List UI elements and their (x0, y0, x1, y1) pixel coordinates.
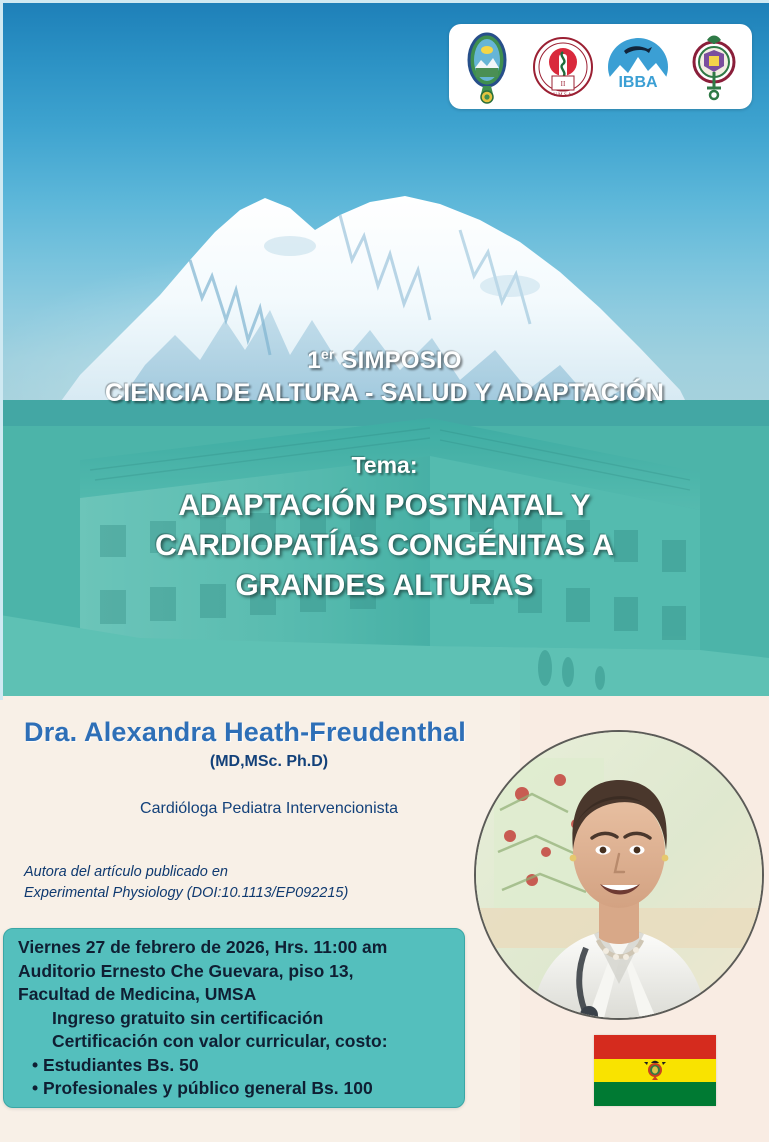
publication-line-1: Autora del artículo publicado en (24, 862, 494, 883)
svg-text:U.M.S.A.: U.M.S.A. (553, 93, 572, 98)
poster-frame-top (0, 0, 769, 3)
event-details-box: Viernes 27 de febrero de 2026, Hrs. 11:0… (3, 928, 465, 1108)
topic-line-1: ADAPTACIÓN POSTNATAL Y (0, 486, 769, 526)
institution-logos-bar: II U.M.S.A. IBBA (449, 24, 752, 109)
umsa-emblem-logo (681, 28, 747, 106)
ibba-logo: IBBA (605, 28, 671, 106)
event-number: 1 (307, 347, 321, 374)
event-number-suffix: er (321, 346, 335, 362)
event-title-line: 1er SIMPOSIO (0, 340, 769, 375)
detail-price-students: • Estudiantes Bs. 50 (18, 1054, 456, 1078)
bolivia-coat-of-arms-icon (642, 1059, 668, 1081)
facultad-de-medicina-umsa-logo: II U.M.S.A. (530, 28, 596, 106)
event-subtitle: CIENCIA DE ALTURA - SALUD Y ADAPTACIÓN (0, 377, 769, 409)
speaker-degrees: (MD,MSc. Ph.D) (24, 753, 514, 771)
poster-frame-left (0, 0, 3, 700)
poster-root: II U.M.S.A. IBBA (0, 0, 769, 1142)
publication-line-2: Experimental Physiology (DOI:10.1113/EP0… (24, 883, 494, 904)
topic-label: Tema: (0, 452, 769, 479)
flag-stripe-green (594, 1082, 716, 1106)
svg-text:IBBA: IBBA (619, 74, 659, 91)
publication-note: Autora del artículo publicado en Experim… (24, 862, 494, 904)
headline-block: 1er SIMPOSIO CIENCIA DE ALTURA - SALUD Y… (0, 340, 769, 409)
speaker-role: Cardióloga Pediatra Intervencionista (24, 800, 514, 818)
detail-certification-cost: Certificación con valor curricular, cost… (18, 1030, 456, 1054)
topic-line-2: CARDIOPATÍAS CONGÉNITAS A (0, 526, 769, 566)
speaker-name: Dra. Alexandra Heath-Freudenthal (24, 717, 544, 748)
flag-stripe-yellow (594, 1059, 716, 1083)
detail-price-professionals: • Profesionales y público general Bs. 10… (18, 1077, 456, 1101)
detail-datetime: Viernes 27 de febrero de 2026, Hrs. 11:0… (18, 936, 456, 960)
topic-line-3: GRANDES ALTURAS (0, 566, 769, 606)
detail-faculty: Facultad de Medicina, UMSA (18, 983, 456, 1007)
detail-venue: Auditorio Ernesto Che Guevara, piso 13, (18, 960, 456, 984)
speaker-portrait (474, 730, 764, 1020)
topic-block: ADAPTACIÓN POSTNATAL Y CARDIOPATÍAS CONG… (0, 486, 769, 606)
bolivia-state-medallion-logo (454, 28, 520, 106)
detail-free-entry: Ingreso gratuito sin certificación (18, 1007, 456, 1031)
svg-text:II: II (560, 80, 565, 88)
bolivia-flag (594, 1035, 716, 1106)
event-word: SIMPOSIO (341, 347, 461, 374)
flag-stripe-red (594, 1035, 716, 1059)
